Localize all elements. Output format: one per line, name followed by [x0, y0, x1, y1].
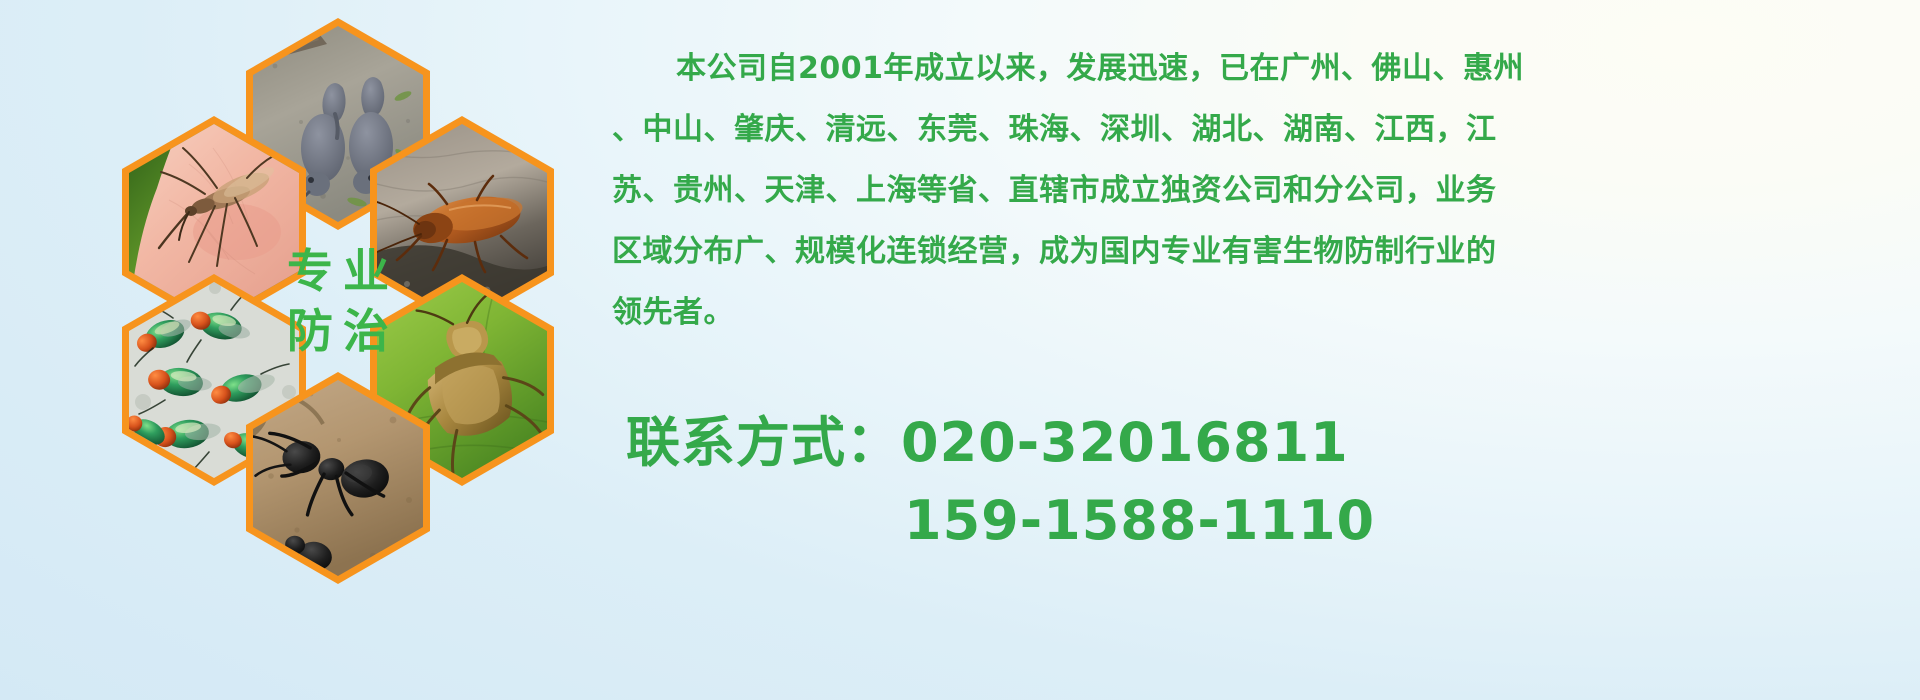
description-line-5: 领先者。: [612, 282, 1902, 343]
contact-block: 联系方式：020-32016811 159-1588-1110: [626, 404, 1916, 560]
slogan-line-2: 防治: [277, 308, 399, 354]
promo-banner: 专业 防治 本公司自2001年成立以来，发展迅速，已在广州、佛山、惠州 、中山、…: [0, 0, 1920, 700]
company-description: 本公司自2001年成立以来，发展迅速，已在广州、佛山、惠州 、中山、肇庆、清远、…: [612, 38, 1902, 343]
description-line-4: 区域分布广、规模化连锁经营，成为国内专业有害生物防制行业的: [612, 221, 1902, 282]
ant-photo: [253, 380, 423, 576]
description-line-3: 苏、贵州、天津、上海等省、直辖市成立独资公司和分公司，业务: [612, 160, 1902, 221]
description-line-2: 、中山、肇庆、清远、东莞、珠海、深圳、湖北、湖南、江西，江: [612, 99, 1902, 160]
honeycomb-gallery: 专业 防治: [88, 0, 588, 554]
description-line-1: 本公司自2001年成立以来，发展迅速，已在广州、佛山、惠州: [612, 38, 1902, 99]
slogan-line-1: 专业: [277, 248, 399, 294]
contact-phone-mobile[interactable]: 159-1588-1110: [626, 482, 1916, 560]
contact-phone-landline[interactable]: 联系方式：020-32016811: [626, 404, 1916, 482]
